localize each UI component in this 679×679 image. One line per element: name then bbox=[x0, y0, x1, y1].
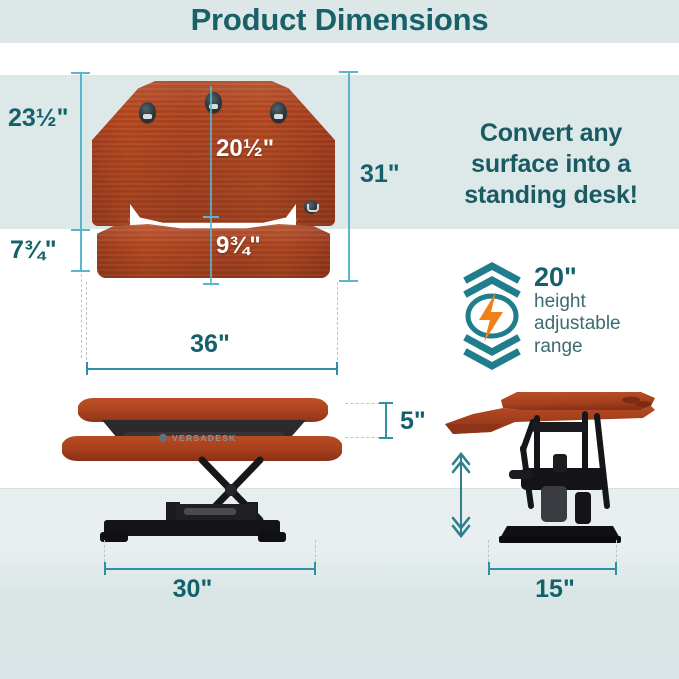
infographic-canvas: Product Dimensions 20½" 9¾" 23½" 7¾" 31" bbox=[0, 0, 679, 679]
height-734-label: 7¾" bbox=[10, 236, 57, 265]
tagline-line-3: standing desk! bbox=[444, 180, 658, 211]
depth-30-label: 30" bbox=[60, 575, 325, 604]
right-measure-line bbox=[348, 71, 350, 281]
perspective-view-illustration bbox=[445, 388, 675, 558]
center-measure-tick-bottom bbox=[203, 283, 219, 285]
height-2312-label: 23½" bbox=[8, 104, 69, 133]
depth-upper-label: 20½" bbox=[216, 135, 274, 163]
height-adjust-value: 20" bbox=[534, 264, 674, 291]
depth-lower-label: 9¾" bbox=[216, 232, 261, 260]
depth30-extension-right bbox=[315, 540, 316, 562]
cable-grommet-right bbox=[270, 102, 287, 123]
depth-15-label: 15" bbox=[470, 575, 640, 604]
depth30-extension-left bbox=[104, 540, 105, 562]
versadesk-logo-badge bbox=[304, 200, 318, 214]
vertical-double-arrow bbox=[448, 450, 474, 540]
five-inch-tick-top bbox=[379, 402, 393, 404]
center-measure-line-lower bbox=[210, 218, 212, 284]
five-inch-measure-line bbox=[385, 403, 387, 438]
width-tick-left bbox=[86, 362, 88, 375]
top-down-desk-illustration bbox=[92, 78, 335, 278]
side-view-brand-text: VERSADESK bbox=[172, 433, 237, 443]
keyboard-tray-surface bbox=[97, 224, 330, 278]
tagline-line-2: surface into a bbox=[444, 149, 658, 180]
height-31-label: 31" bbox=[360, 160, 400, 189]
left-measure-line-lower bbox=[80, 231, 82, 271]
side-view-illustration: VERSADESK bbox=[60, 392, 345, 557]
width-measure-line bbox=[86, 368, 338, 370]
page-title: Product Dimensions bbox=[0, 2, 679, 38]
left-measure-tick-bottom bbox=[71, 270, 90, 272]
cable-grommet-left bbox=[139, 102, 156, 123]
tagline-line-1: Convert any bbox=[444, 118, 658, 149]
height-5-label: 5" bbox=[400, 407, 426, 436]
depth30-measure-line bbox=[104, 568, 316, 570]
height-adjust-text: 20" height adjustable range bbox=[534, 264, 674, 358]
width-tick-right bbox=[336, 362, 338, 375]
height-adjustable-badge: 20" height adjustable range bbox=[462, 262, 672, 372]
depth15-extension-right bbox=[616, 540, 617, 562]
cable-grommet-center bbox=[205, 92, 222, 113]
depth30-tick-right bbox=[314, 562, 316, 575]
right-measure-tick-bottom bbox=[339, 280, 358, 282]
depth15-measure-line bbox=[488, 568, 617, 570]
height-adjust-bolt-icon bbox=[462, 262, 522, 370]
depth15-tick-left bbox=[488, 562, 490, 575]
width-36-label: 36" bbox=[0, 330, 420, 359]
height-adjust-sub-3: range bbox=[534, 336, 674, 358]
depth15-extension-left bbox=[488, 540, 489, 562]
depth30-tick-left bbox=[104, 562, 106, 575]
left-measure-line-upper bbox=[80, 72, 82, 230]
center-measure-line-upper bbox=[210, 86, 212, 218]
height-adjust-sub-1: height bbox=[534, 291, 674, 313]
tagline-block: Convert any surface into a standing desk… bbox=[444, 118, 658, 211]
height-adjust-sub-2: adjustable bbox=[534, 313, 674, 335]
five-inch-tick-bottom bbox=[379, 437, 393, 439]
depth15-tick-right bbox=[615, 562, 617, 575]
